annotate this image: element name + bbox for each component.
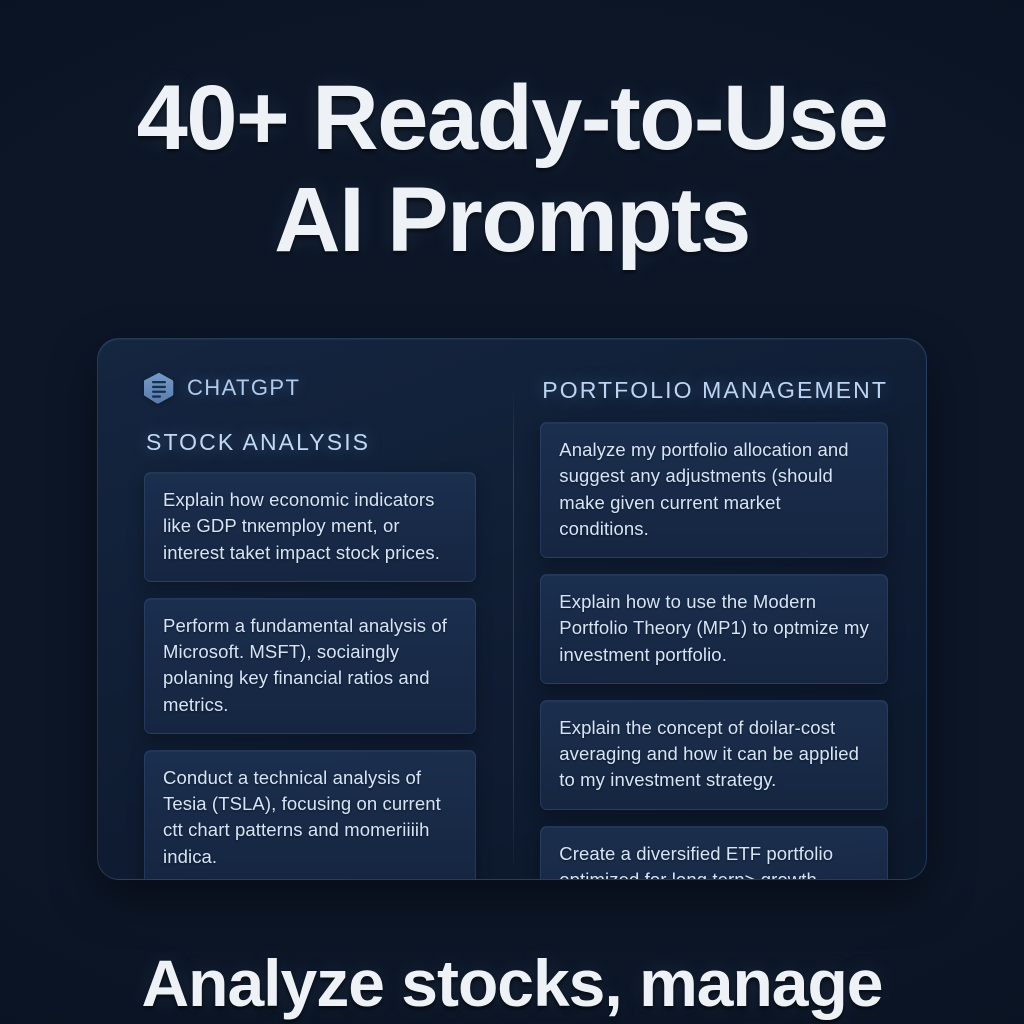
chatgpt-document-icon	[144, 372, 174, 404]
prompt-card[interactable]: Create a diversified ETF portfolio optim…	[540, 826, 888, 880]
prompt-card[interactable]: Explain the concept of doilar-cost avera…	[540, 700, 888, 810]
prompt-card[interactable]: Analyze my portfolio allocation and sugg…	[540, 422, 888, 558]
column-portfolio-management: PORTFOLIO MANAGEMENT Analyze my portfoli…	[540, 373, 888, 853]
prompt-card[interactable]: Perform a fundamental analysis of Micros…	[144, 598, 476, 734]
column-divider	[513, 391, 514, 865]
prompts-panel: CHATGPT STOCK ANALYSIS Explain how econo…	[97, 338, 927, 880]
section-title-portfolio-management: PORTFOLIO MANAGEMENT	[542, 377, 888, 404]
prompt-card[interactable]: Explain how economic indicators like GDP…	[144, 472, 476, 582]
prompt-card[interactable]: Conduct a technical analysis of Tesia (T…	[144, 750, 476, 880]
prompt-card[interactable]: Explain how to use the Modern Portfolio …	[540, 574, 888, 684]
headline-line-1: 40+ Ready-to-Use	[0, 72, 1024, 166]
section-title-stock-analysis: STOCK ANALYSIS	[146, 429, 476, 456]
bottom-caption: Analyze stocks, manage	[0, 949, 1024, 1018]
column-stock-analysis: CHATGPT STOCK ANALYSIS Explain how econo…	[144, 373, 476, 853]
headline-line-2: AI Prompts	[0, 174, 1024, 268]
promo-poster: 40+ Ready-to-Use AI Prompts	[0, 0, 1024, 1024]
headline: 40+ Ready-to-Use AI Prompts	[0, 72, 1024, 268]
brand-label: CHATGPT	[187, 375, 300, 401]
brand-row: CHATGPT	[144, 373, 476, 403]
